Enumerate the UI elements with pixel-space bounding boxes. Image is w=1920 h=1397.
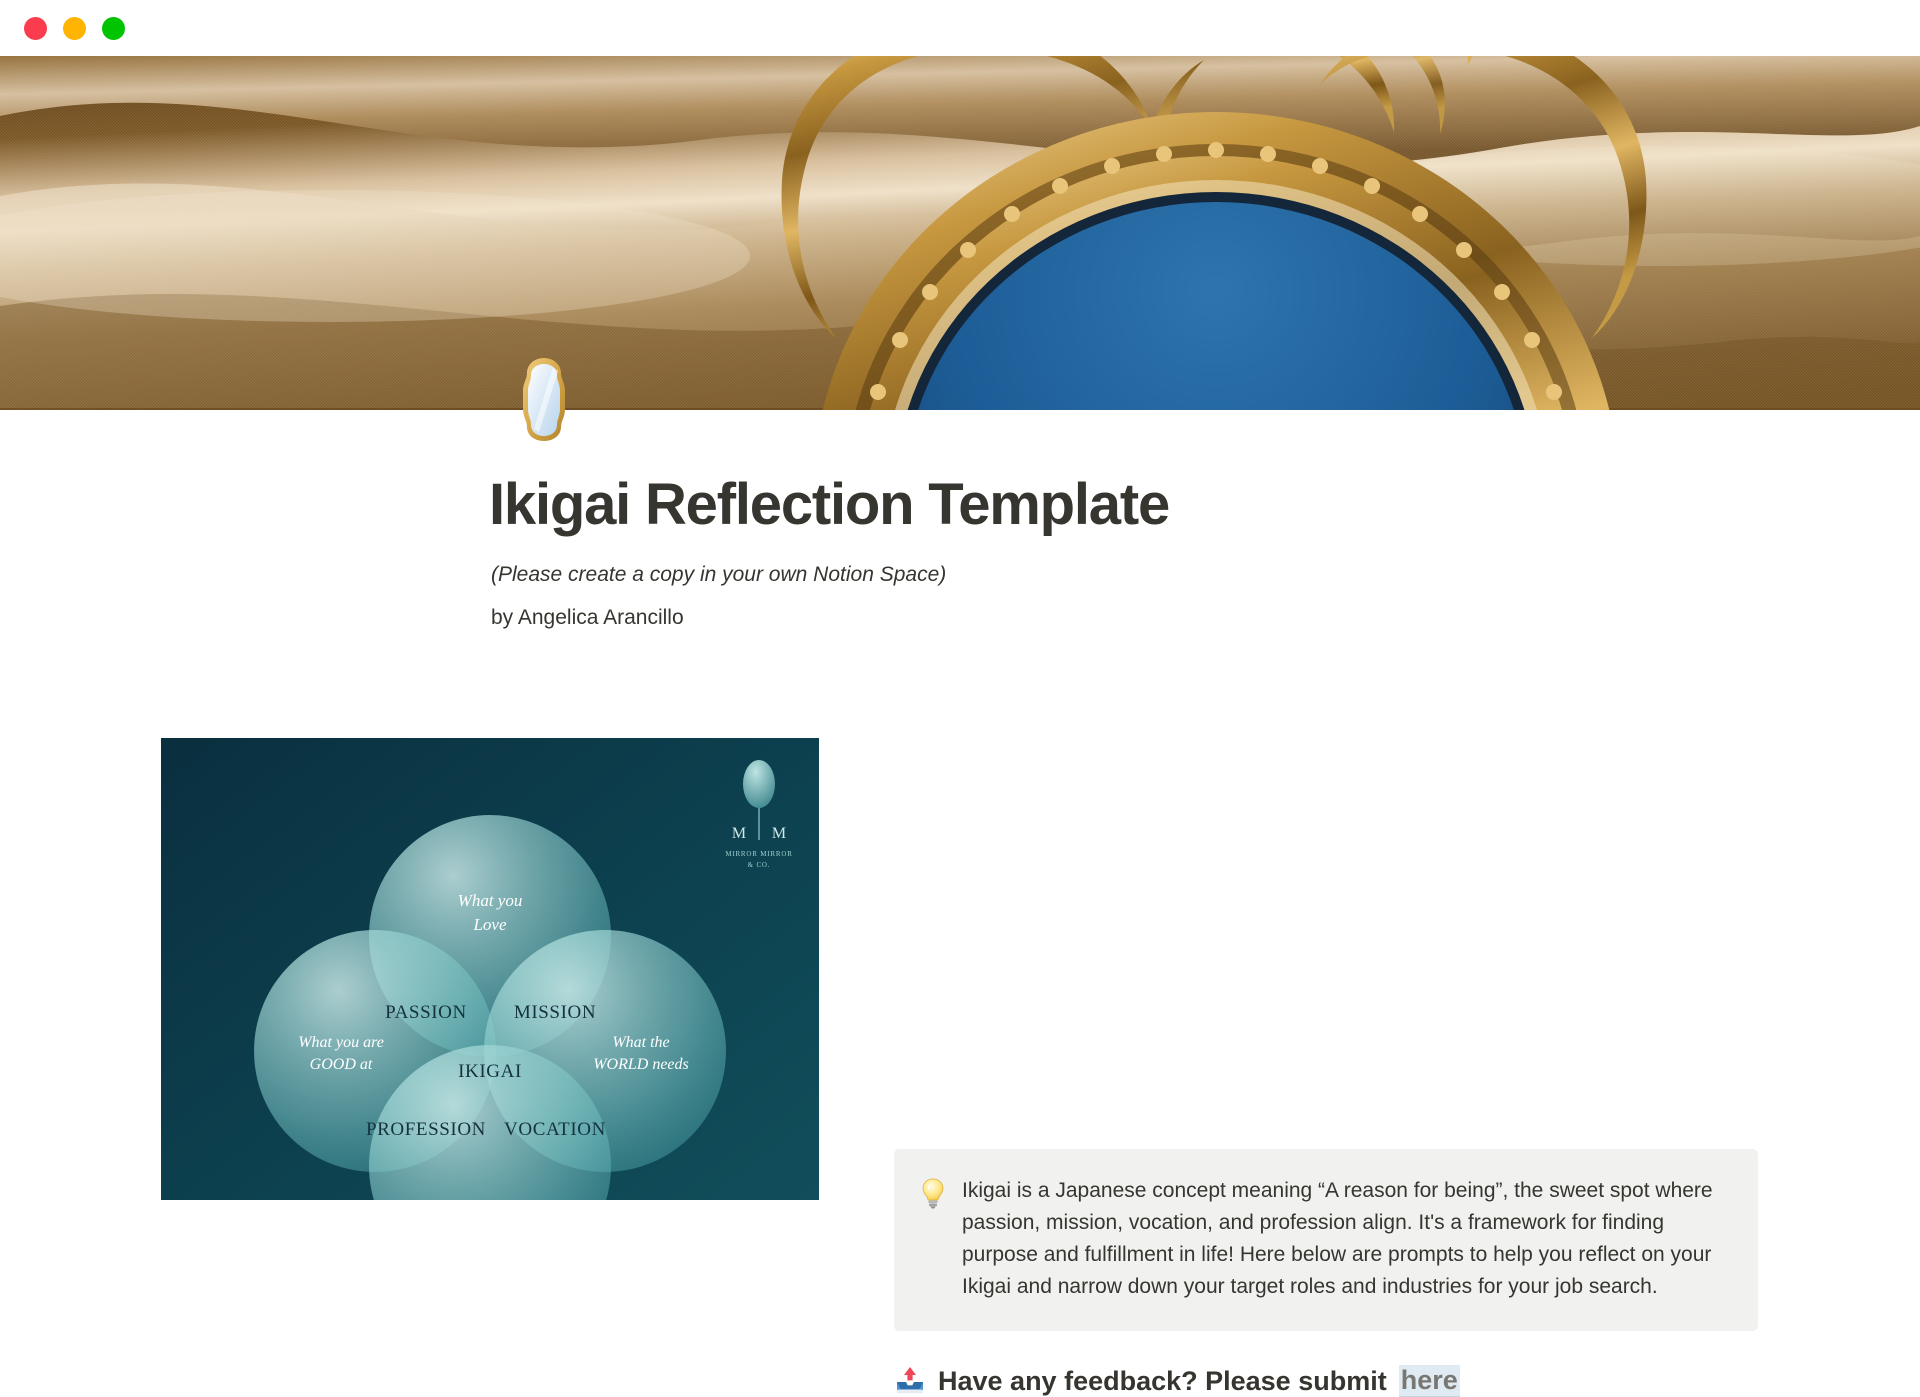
feedback-link[interactable]: here bbox=[1399, 1365, 1460, 1397]
page-title[interactable]: Ikigai Reflection Template bbox=[489, 473, 1169, 537]
svg-text:M: M bbox=[732, 825, 746, 842]
svg-text:PASSION: PASSION bbox=[385, 1002, 467, 1023]
close-window-button[interactable] bbox=[24, 17, 47, 40]
svg-text:What the: What the bbox=[612, 1034, 669, 1051]
feedback-text: Have any feedback? Please submit bbox=[938, 1366, 1387, 1397]
svg-text:MISSION: MISSION bbox=[514, 1002, 596, 1023]
svg-text:What you are: What you are bbox=[298, 1034, 384, 1051]
page-icon-mirror[interactable] bbox=[508, 355, 580, 443]
minimize-window-button[interactable] bbox=[63, 17, 86, 40]
ikigai-venn-diagram[interactable]: What you Love What you are GOOD at What … bbox=[161, 738, 819, 1200]
traffic-light-group bbox=[24, 17, 125, 40]
info-callout[interactable]: Ikigai is a Japanese concept meaning “A … bbox=[894, 1149, 1758, 1331]
inbox-tray-icon bbox=[894, 1365, 926, 1397]
svg-text:M: M bbox=[772, 825, 786, 842]
svg-text:What you: What you bbox=[458, 891, 523, 910]
svg-text:GOOD at: GOOD at bbox=[310, 1056, 373, 1073]
document-content: Ikigai Reflection Template (Please creat… bbox=[0, 410, 1920, 1200]
page-author[interactable]: by Angelica Arancillo bbox=[491, 606, 684, 630]
svg-text:& CO.: & CO. bbox=[748, 861, 771, 869]
window-titlebar bbox=[0, 0, 1920, 56]
feedback-line: Have any feedback? Please submit here bbox=[894, 1365, 1460, 1397]
maximize-window-button[interactable] bbox=[102, 17, 125, 40]
page-subtitle[interactable]: (Please create a copy in your own Notion… bbox=[491, 563, 946, 587]
svg-text:IKIGAI: IKIGAI bbox=[458, 1061, 522, 1082]
svg-text:MIRROR MIRROR: MIRROR MIRROR bbox=[725, 850, 792, 858]
callout-text: Ikigai is a Japanese concept meaning “A … bbox=[962, 1175, 1728, 1303]
light-bulb-icon bbox=[920, 1177, 946, 1209]
svg-text:VOCATION: VOCATION bbox=[504, 1119, 606, 1140]
svg-text:Love: Love bbox=[472, 915, 507, 934]
svg-text:PROFESSION: PROFESSION bbox=[366, 1119, 486, 1140]
page-cover-image[interactable] bbox=[0, 56, 1920, 410]
svg-text:WORLD needs: WORLD needs bbox=[593, 1056, 689, 1073]
